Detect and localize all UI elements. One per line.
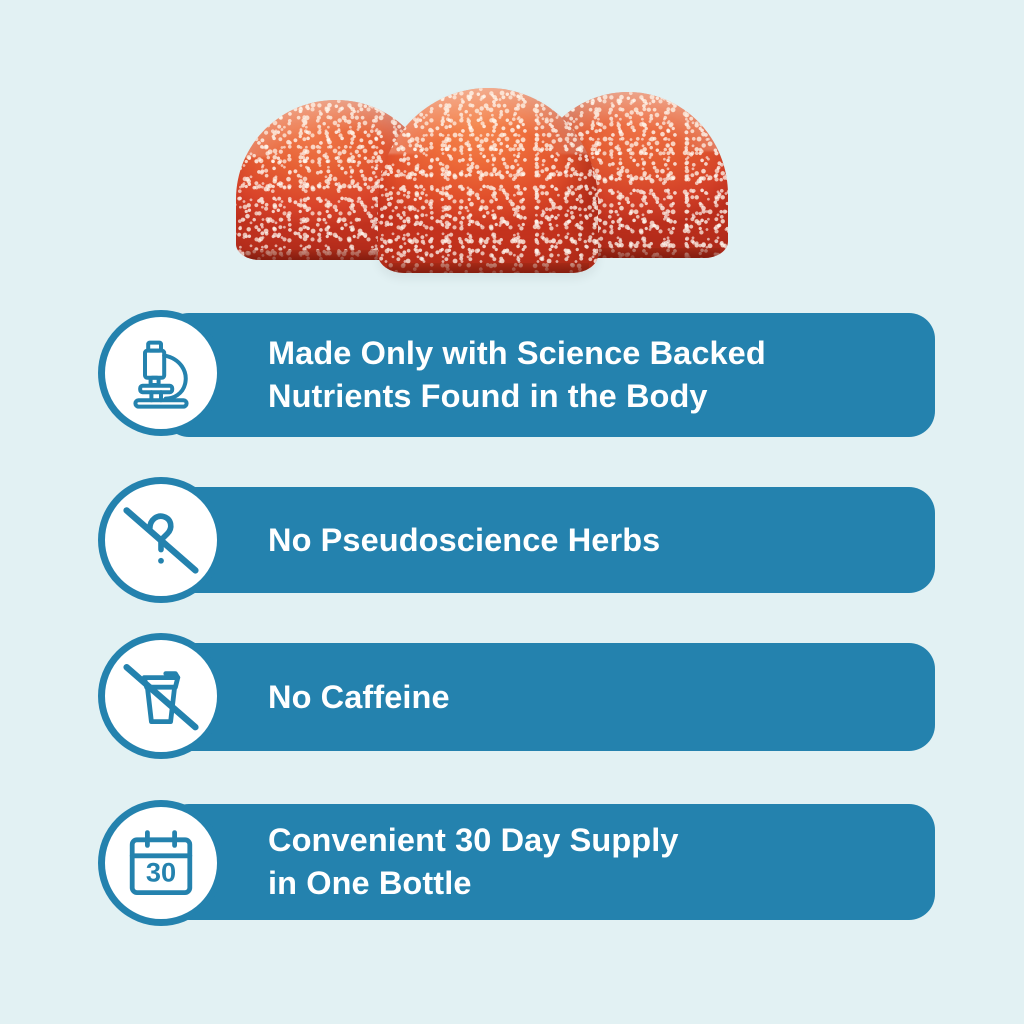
feature-bar-no-caffeine: No Caffeine — [163, 643, 935, 751]
feature-bar-no-pseudoscience: No Pseudoscience Herbs — [163, 487, 935, 593]
no-question-mark-icon — [121, 500, 201, 580]
feature-row: Convenient 30 Day Supply in One Bottle 3… — [0, 790, 1024, 950]
feature-badge — [98, 477, 224, 603]
feature-label: Made Only with Science Backed Nutrients … — [163, 332, 790, 418]
calendar-30-icon: 30 — [121, 823, 201, 903]
feature-row: No Caffeine — [0, 625, 1024, 790]
microscope-icon — [121, 333, 201, 413]
feature-row: No Pseudoscience Herbs — [0, 465, 1024, 625]
feature-label: No Pseudoscience Herbs — [163, 519, 684, 562]
feature-badge — [98, 633, 224, 759]
gummy-group — [228, 78, 738, 283]
feature-badge — [98, 310, 224, 436]
no-coffee-cup-icon — [121, 656, 201, 736]
feature-bar-science-backed: Made Only with Science Backed Nutrients … — [163, 313, 935, 437]
calendar-number: 30 — [146, 856, 176, 887]
gummy-center — [378, 88, 598, 273]
feature-list: Made Only with Science Backed Nutrients … — [0, 295, 1024, 950]
feature-bar-30-day-supply: Convenient 30 Day Supply in One Bottle — [163, 804, 935, 920]
product-hero-image — [0, 0, 1024, 300]
feature-row: Made Only with Science Backed Nutrients … — [0, 295, 1024, 465]
gummy-base-shadow — [387, 263, 589, 273]
sugar-rim — [378, 88, 598, 154]
feature-label: Convenient 30 Day Supply in One Bottle — [163, 819, 703, 905]
feature-badge: 30 — [98, 800, 224, 926]
